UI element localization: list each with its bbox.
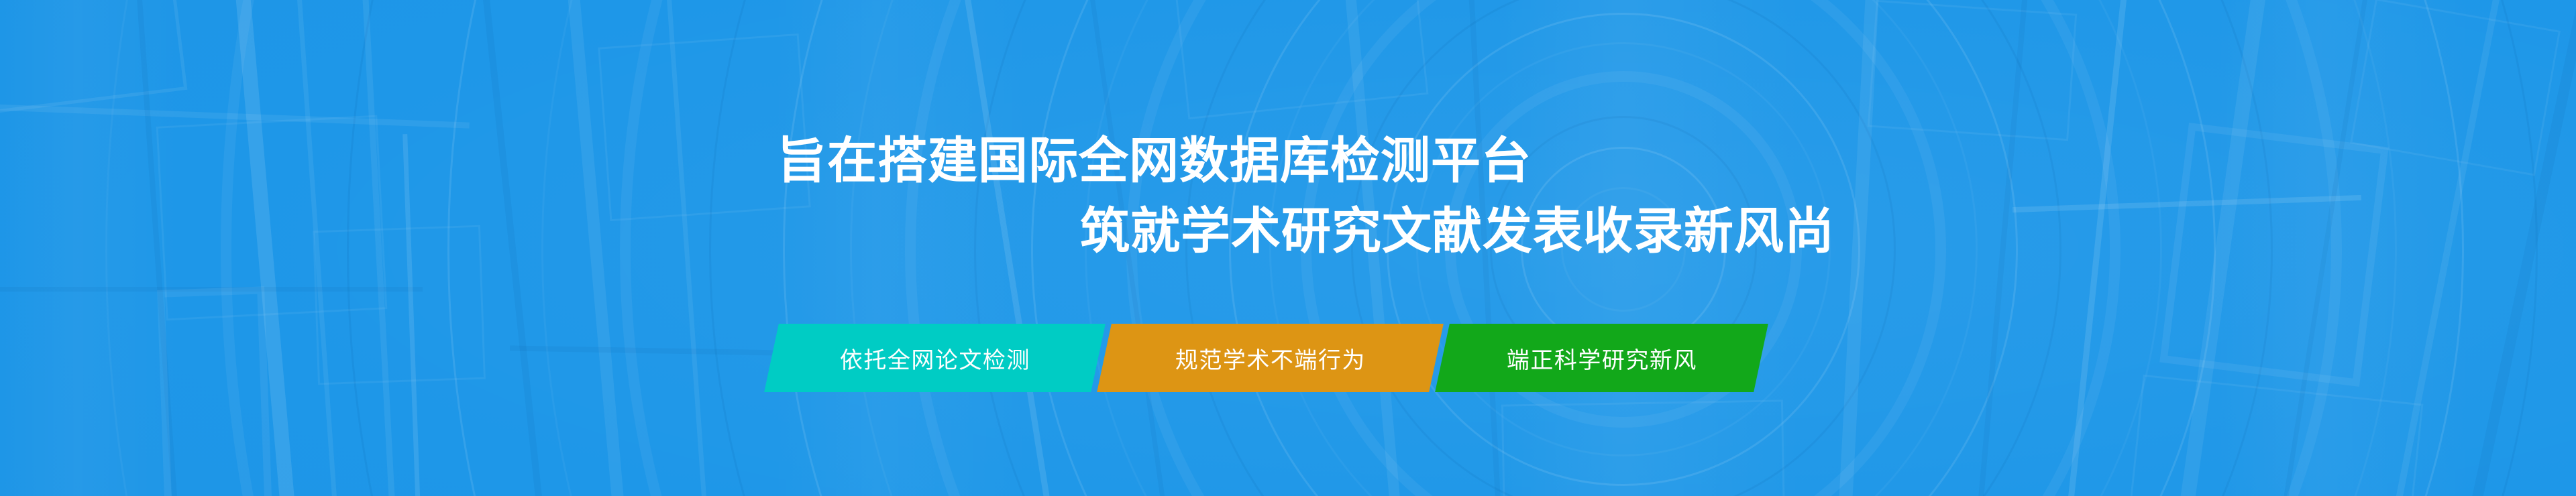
headline-block: 旨在搭建国际全网数据库检测平台 筑就学术研究文献发表收录新风尚 xyxy=(0,0,2576,496)
feature-tag-research-ethos[interactable]: 端正科学研究新风 xyxy=(1435,324,1768,392)
headline-line-1: 旨在搭建国际全网数据库检测平台 xyxy=(777,136,1532,186)
feature-tag-label: 规范学术不端行为 xyxy=(1175,342,1366,375)
promo-banner: 旨在搭建国际全网数据库检测平台 筑就学术研究文献发表收录新风尚 依托全网论文检测… xyxy=(0,0,2576,496)
feature-tag-label: 依托全网论文检测 xyxy=(840,342,1030,375)
feature-tag-misconduct-regulation[interactable]: 规范学术不端行为 xyxy=(1097,324,1444,392)
feature-tag-label: 端正科学研究新风 xyxy=(1507,342,1697,375)
feature-tag-strip: 依托全网论文检测 规范学术不端行为 端正科学研究新风 xyxy=(771,324,1761,392)
headline-line-2: 筑就学术研究文献发表收录新风尚 xyxy=(1080,206,1835,256)
feature-tag-paper-detection[interactable]: 依托全网论文检测 xyxy=(764,324,1106,392)
